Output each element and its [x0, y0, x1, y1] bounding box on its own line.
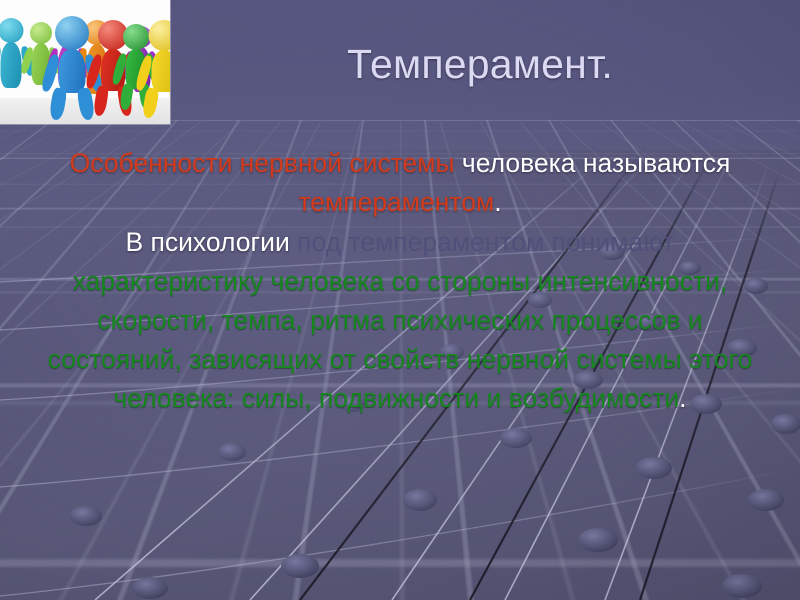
run-white-1: человека называются	[462, 148, 730, 178]
figure-front-yellow	[142, 20, 170, 120]
run-green-1: характеристику человека со стороны интен…	[48, 266, 753, 413]
paragraph-psychology-sentence: В психологии под темпераментом понимают …	[28, 223, 772, 418]
slide-body: Особенности нервной системы человека наз…	[28, 144, 772, 418]
run-faded-1: под темпераментом понимают	[297, 227, 674, 257]
people-figures-photo	[0, 0, 170, 124]
paragraph-definition-sentence: Особенности нервной системы человека наз…	[28, 144, 772, 222]
run-white-2: .	[494, 187, 501, 217]
slide-title: Темперамент.	[180, 42, 780, 88]
run-red-1: Особенности нервной системы	[70, 148, 462, 178]
run-red-2: темпераментом	[298, 187, 494, 217]
run-white-3: В психологии	[125, 227, 297, 257]
presentation-slide: Темперамент. Особенности нервной системы…	[0, 0, 800, 600]
run-white-4: .	[679, 383, 686, 413]
